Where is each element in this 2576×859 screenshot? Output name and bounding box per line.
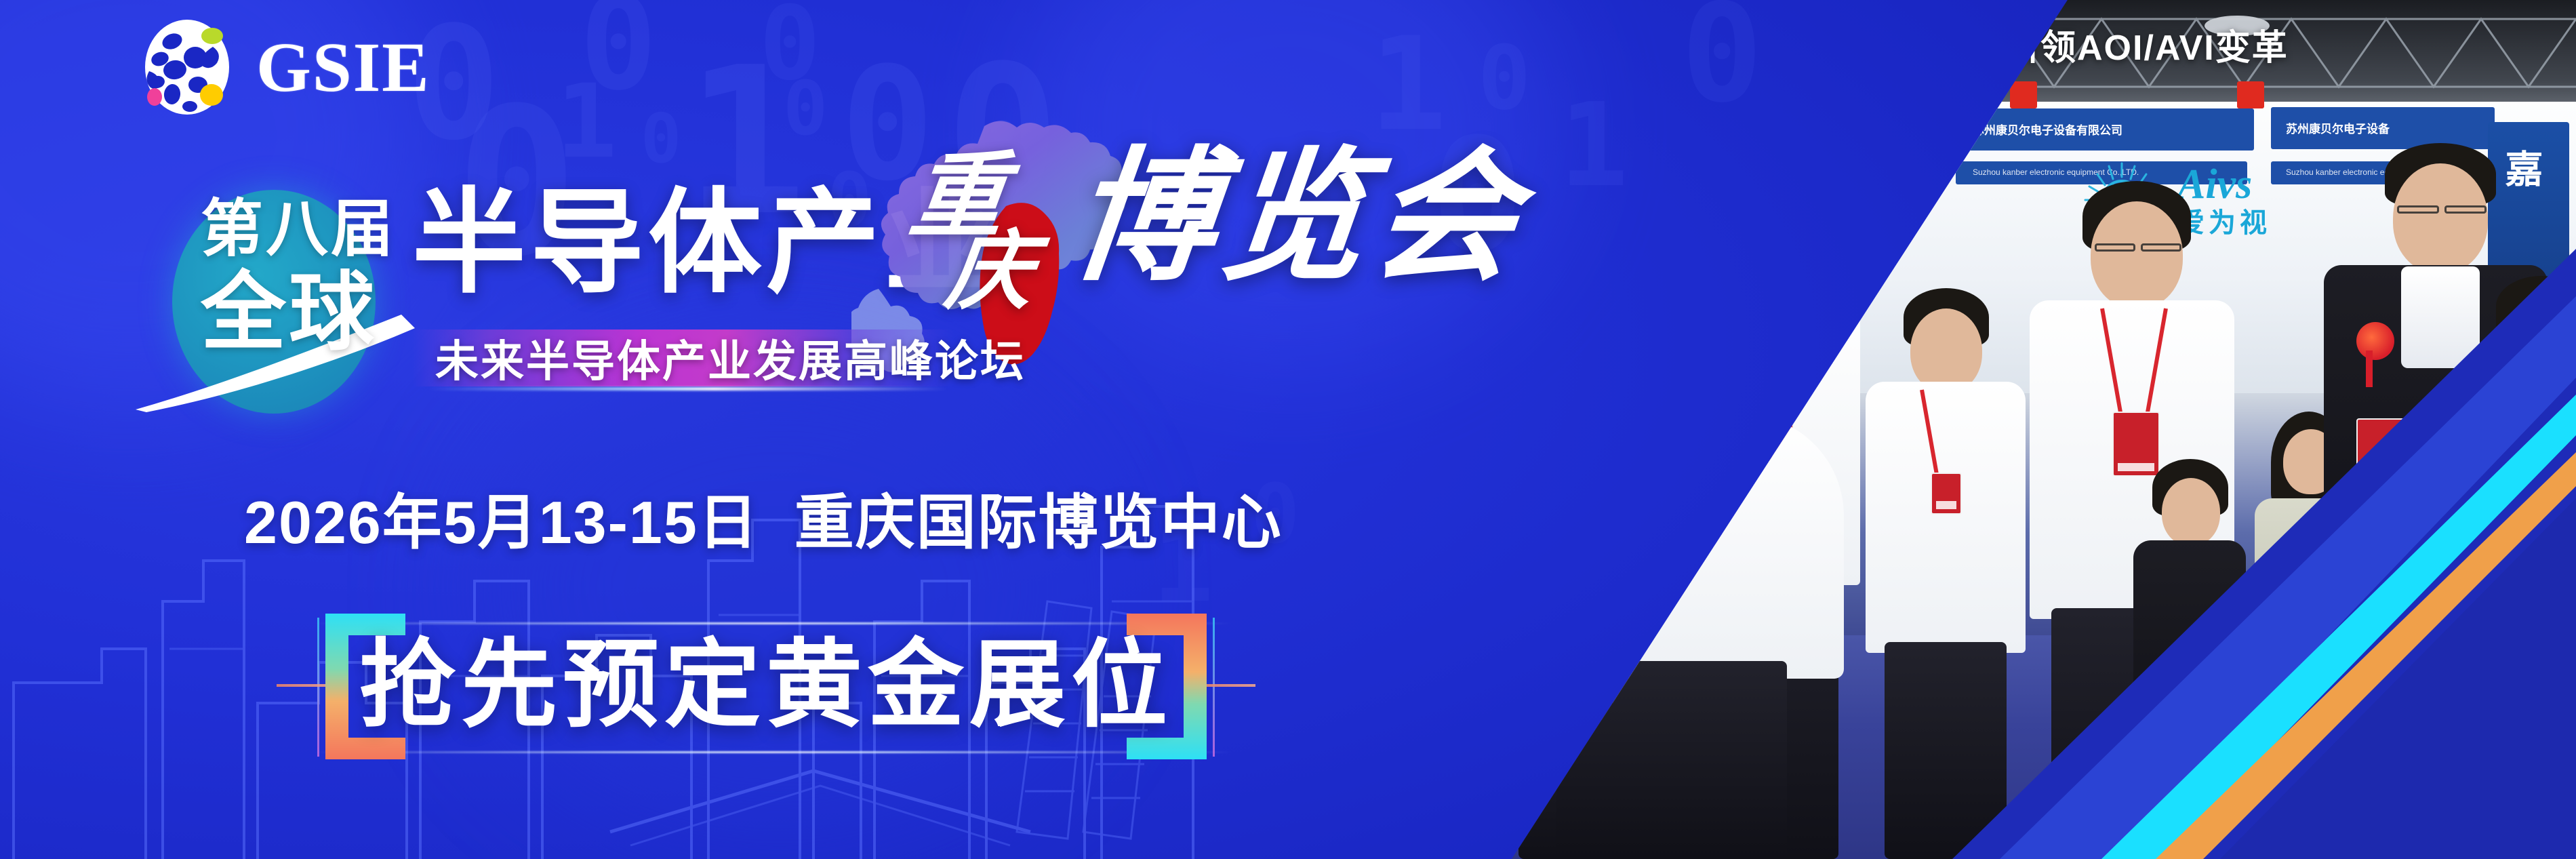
event-dateline: 2026年5月13-15日重庆国际博览中心 xyxy=(244,475,1283,561)
headline-block: 第八届 全球 半导体产业 重 庆 xyxy=(160,182,1448,426)
logo-accent-green xyxy=(201,28,223,44)
edition-badge-text: 第八届 全球 xyxy=(201,198,424,355)
eyeglasses xyxy=(2397,205,2439,214)
logo-accent-yellow xyxy=(200,84,223,106)
attendee xyxy=(2125,439,2254,859)
cta-block[interactable]: 抢先预定黄金展位 xyxy=(325,614,1207,759)
cta-tick-right xyxy=(1199,684,1255,687)
binary-digit: 1 xyxy=(1559,88,1628,203)
city-char-2: 庆 xyxy=(942,233,1065,313)
booth-sign-label: 苏州康贝尔电子设备 xyxy=(2286,119,2390,136)
binary-digit: 1 xyxy=(556,71,617,173)
eyeglasses xyxy=(2141,243,2181,252)
city-calligraphy: 重 庆 xyxy=(904,155,1060,313)
attendee-badge xyxy=(1931,473,1962,515)
eyeglasses xyxy=(2444,205,2487,214)
corsage-flower xyxy=(2356,322,2394,360)
booth-sign-label: 上海 Shanghai xyxy=(1649,203,1702,215)
booth-sign-label: www.beikon.cn xyxy=(1722,132,1805,145)
diagonal-accent-stripe xyxy=(1342,0,1522,859)
binary-digit: 0 xyxy=(1681,0,1763,122)
binary-digit: 0 xyxy=(783,71,828,146)
diagonal-accent-stripe xyxy=(1342,0,1386,859)
booth-accent-chip xyxy=(2010,81,2037,108)
eyeglasses xyxy=(2095,243,2135,252)
attendee-foreground xyxy=(1498,262,1851,859)
cta-label[interactable]: 抢先预定黄金展位 xyxy=(325,624,1207,746)
booth-accent-chip xyxy=(2237,81,2264,108)
event-banner: 0 0 0 0 1 1 0 0 0 0 0 1 0 1 0 0 1 0 xyxy=(0,0,2576,859)
binary-digit: 0 xyxy=(641,105,681,173)
diagonal-accent-stripe xyxy=(1342,0,1428,859)
eyeglasses xyxy=(2507,334,2541,342)
attendee-badge xyxy=(2356,418,2408,489)
edition-line-1: 第八届 xyxy=(201,198,424,260)
gsie-logo[interactable]: GSIE xyxy=(133,20,430,115)
edition-line-2: 全球 xyxy=(201,270,424,355)
subtitle-bar: 未来半导体产业发展高峰论坛 xyxy=(412,329,954,386)
binary-digit: 0 xyxy=(580,0,657,108)
booth-sign-label: 苏州康贝尔电子设备有限公司 xyxy=(1973,121,2122,138)
cta-vline-right xyxy=(1213,618,1215,757)
subtitle-glow-line xyxy=(428,387,948,391)
diagonal-accent-stripe-cyan xyxy=(1342,0,1458,859)
booth-sign xyxy=(1641,163,1756,244)
binary-digit: 1 xyxy=(1369,20,1447,149)
attendee xyxy=(2461,262,2576,859)
exhibition-photo: 专注智能视觉检测，以AI引领AOI/AVI变革 www.beikon.cn 苏州… xyxy=(1342,0,2576,859)
expo-calligraphy: 博览会 xyxy=(1064,146,1531,290)
booth-banner-text: 专注智能视觉检测，以AI引领AOI/AVI变革 xyxy=(1600,15,2576,73)
cta-vline-left xyxy=(317,618,319,757)
booth-display-screen xyxy=(1661,146,1885,281)
binary-digit: 0 xyxy=(1478,34,1531,122)
subtitle-text: 未来半导体产业发展高峰论坛 xyxy=(412,327,1026,389)
attendee-badge xyxy=(2526,479,2557,521)
attendee xyxy=(1857,249,2034,859)
event-venue: 重庆国际博览中心 xyxy=(794,489,1283,556)
logo-accent-pink xyxy=(147,88,162,106)
gsie-sphere-icon xyxy=(133,17,241,119)
booth-sign xyxy=(1651,121,1935,159)
eyeglasses xyxy=(2546,334,2576,342)
event-date: 2026年5月13-15日 xyxy=(244,489,759,556)
binary-digit: 0 xyxy=(759,0,820,95)
gsie-wordmark: GSIE xyxy=(256,33,430,103)
